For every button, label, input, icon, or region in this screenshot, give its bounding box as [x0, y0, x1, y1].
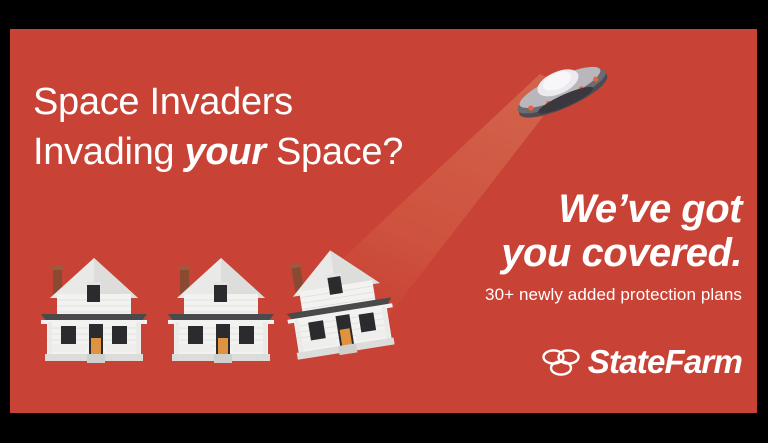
- headline-emphasis: your: [185, 131, 266, 173]
- headline: Space Invaders Invading your Space?: [33, 77, 403, 177]
- headline-line-2: Invading your Space?: [33, 127, 403, 177]
- advertisement-banner: Space Invaders Invading your Space?: [0, 0, 768, 443]
- ad-canvas: Space Invaders Invading your Space?: [10, 29, 757, 413]
- tagline-line-1: We’ve got: [322, 187, 742, 231]
- state-farm-wordmark: StateFarm: [588, 345, 742, 378]
- state-farm-trefoil-logo-icon: [541, 347, 581, 377]
- headline-line-2-pre: Invading: [33, 131, 185, 173]
- tagline-line-2: you covered.: [322, 231, 742, 275]
- tagline: We’ve got you covered. 30+ newly added p…: [322, 187, 742, 305]
- flying-saucer-icon: [507, 49, 617, 135]
- headline-line-2-post: Space?: [266, 131, 403, 173]
- headline-line-1: Space Invaders: [33, 77, 403, 127]
- house-illustration-2: [162, 254, 280, 366]
- state-farm-logo[interactable]: StateFarm: [541, 345, 742, 378]
- house-illustration-1: [35, 254, 153, 366]
- tagline-subtext: 30+ newly added protection plans: [322, 285, 742, 305]
